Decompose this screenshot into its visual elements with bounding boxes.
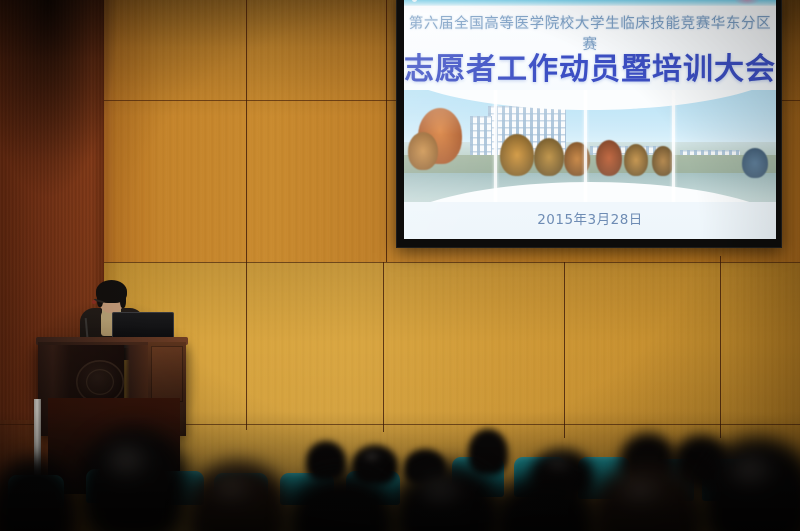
projection-screen: 第六届全国高等医学院校大学生临床技能竞赛华东分区赛 志愿者工作动员暨培训大会 xyxy=(404,0,776,239)
panorama-building-main xyxy=(488,106,566,170)
ceiling-shadow xyxy=(0,0,120,200)
panorama-tree xyxy=(624,144,648,176)
screen-glare xyxy=(404,0,776,239)
panorama-tree xyxy=(418,108,462,164)
slide-bullet-icon xyxy=(412,0,417,2)
slide-decoration-icon xyxy=(734,0,760,5)
panorama-curve-top xyxy=(404,90,776,110)
wall-seam-horizontal xyxy=(104,262,800,263)
panorama-light-wash xyxy=(404,90,776,202)
audience-head-foreground xyxy=(186,461,290,531)
panorama-tree xyxy=(596,140,622,176)
panorama-building-left xyxy=(470,116,492,168)
panorama-tree xyxy=(408,132,438,170)
panorama-tree xyxy=(534,138,564,176)
wall-seam-vertical xyxy=(386,0,387,262)
panorama-panel-divider xyxy=(584,90,587,202)
panorama-tree xyxy=(564,142,590,176)
panorama-panel-divider xyxy=(494,90,497,202)
slide-photo-strip xyxy=(404,90,776,202)
slide-title: 志愿者工作动员暨培训大会 xyxy=(404,44,776,88)
panorama-tree xyxy=(652,146,674,176)
panorama-sky xyxy=(404,90,776,142)
slide-date: 2015年3月28日 xyxy=(404,208,776,228)
slide-subtitle: 第六届全国高等医学院校大学生临床技能竞赛华东分区赛 xyxy=(404,12,776,54)
panorama-building-mid xyxy=(590,146,660,168)
panorama-tree xyxy=(742,148,768,178)
projection-screen-frame: 第六届全国高等医学院校大学生临床技能竞赛华东分区赛 志愿者工作动员暨培训大会 xyxy=(396,0,782,248)
headset-mic-tip-icon xyxy=(92,300,96,304)
audience-head-foreground xyxy=(78,427,190,531)
panorama-ground xyxy=(404,155,776,173)
audience-head-foreground xyxy=(0,457,78,531)
audience-area xyxy=(0,351,800,531)
slide-top-bar xyxy=(404,0,776,6)
panorama-tree xyxy=(500,134,534,176)
panorama-curve-bottom xyxy=(404,182,776,202)
panorama-background xyxy=(404,90,776,202)
panorama-panel-divider xyxy=(672,90,675,202)
panorama-building-right xyxy=(680,150,740,172)
auditorium-photo: 第六届全国高等医学院校大学生临床技能竞赛华东分区赛 志愿者工作动员暨培训大会 xyxy=(0,0,800,531)
panorama-water xyxy=(404,173,776,202)
